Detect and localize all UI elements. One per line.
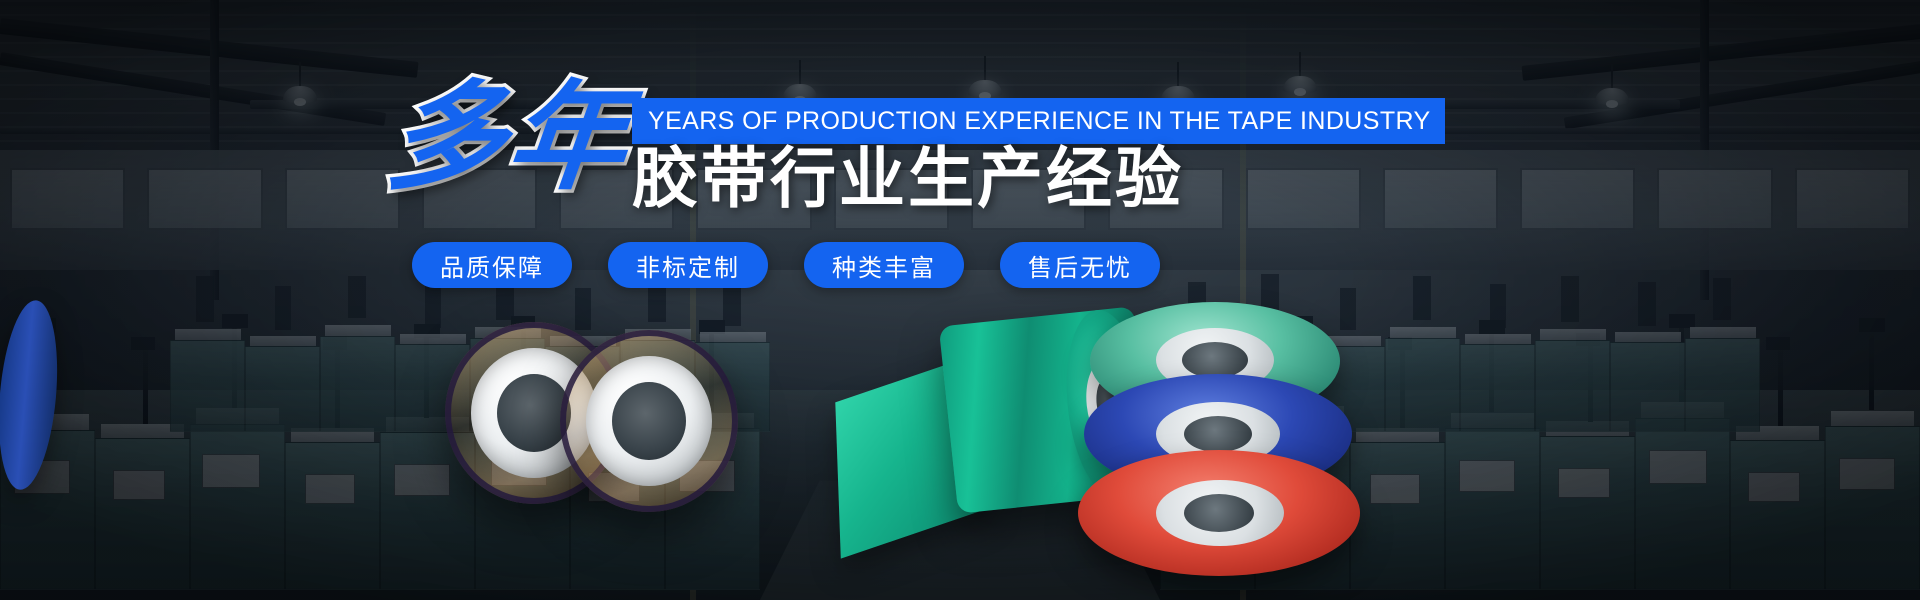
headline-years-number: 多年 <box>382 78 634 196</box>
hero-banner: 多年 YEARS OF PRODUCTION EXPERIENCE IN THE… <box>0 0 1920 600</box>
feature-pill-quality[interactable]: 品质保障 <box>412 242 572 288</box>
english-tagline-text: YEARS OF PRODUCTION EXPERIENCE IN THE TA… <box>648 107 1431 136</box>
banner-content: 多年 YEARS OF PRODUCTION EXPERIENCE IN THE… <box>0 0 1920 600</box>
feature-pill-group: 品质保障 非标定制 种类丰富 售后无忧 <box>412 242 1160 288</box>
feature-pill-variety[interactable]: 种类丰富 <box>804 242 964 288</box>
feature-pill-service[interactable]: 售后无忧 <box>1000 242 1160 288</box>
headline-chinese: 胶带行业生产经验 <box>632 143 1184 214</box>
feature-pill-custom[interactable]: 非标定制 <box>608 242 768 288</box>
english-tagline-bar: YEARS OF PRODUCTION EXPERIENCE IN THE TA… <box>632 98 1445 144</box>
